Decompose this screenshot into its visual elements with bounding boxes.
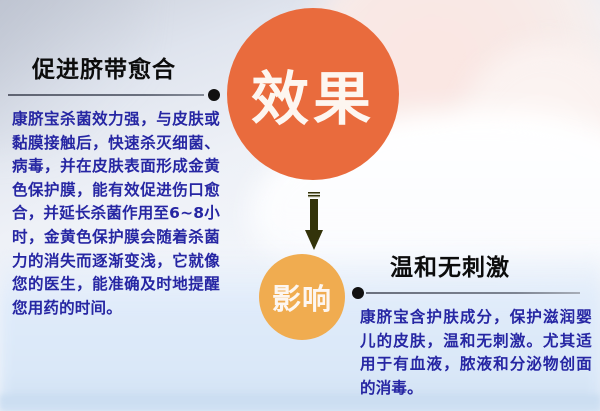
- right-rule-dot: [352, 287, 364, 299]
- right-rule: [352, 287, 592, 299]
- effect-circle: 效果: [227, 8, 399, 180]
- arrow-cap: [308, 192, 320, 198]
- right-heading: 温和无刺激: [352, 256, 592, 281]
- down-arrow-icon: [307, 192, 321, 250]
- right-text-block: 温和无刺激 康脐宝含护肤成分，保护滋润婴儿的皮肤，温和无刺激。尤其适用于有血液，…: [352, 256, 592, 400]
- right-body-text: 康脐宝含护肤成分，保护滋润婴儿的皮肤，温和无刺激。尤其适用于有血液，脓液和分泌物…: [352, 306, 592, 400]
- arrow-shaft: [310, 199, 318, 232]
- left-heading: 促进脐带愈合: [8, 58, 220, 83]
- impact-circle: 影响: [259, 254, 345, 340]
- left-body-text: 康脐宝杀菌效力强，与皮肤或黏膜接触后，快速杀灭细菌、病毒，并在皮肤表面形成金黄色…: [8, 108, 220, 320]
- left-rule-line: [8, 94, 204, 96]
- left-text-block: 促进脐带愈合 康脐宝杀菌效力强，与皮肤或黏膜接触后，快速杀灭细菌、病毒，并在皮肤…: [8, 58, 220, 320]
- poster-canvas: 效果 影响 促进脐带愈合 康脐宝杀菌效力强，与皮肤或黏膜接触后，快速杀灭细菌、病…: [0, 0, 600, 411]
- left-rule-dot: [208, 89, 220, 101]
- right-rule-line: [366, 292, 580, 294]
- left-rule: [8, 89, 220, 101]
- arrow-head: [305, 230, 323, 250]
